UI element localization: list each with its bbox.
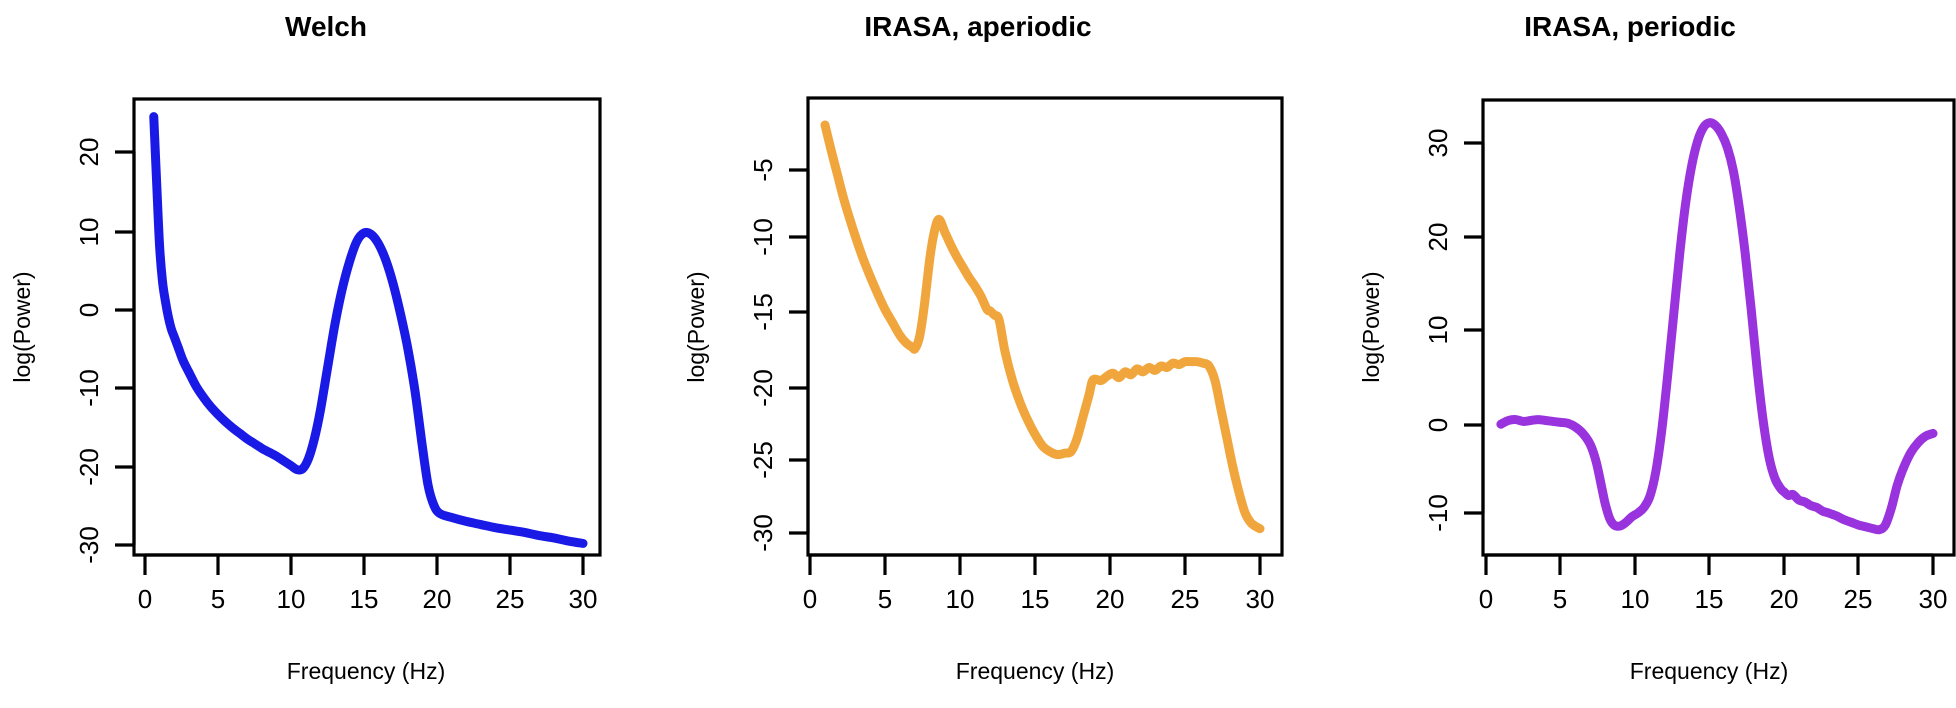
y-tick-label: 20 [74, 138, 104, 167]
x-tick-label: 5 [1553, 584, 1567, 614]
x-tick-label: 0 [803, 584, 817, 614]
panel-irasa-periodic: IRASA, periodic 30 20 10 0 -10 [1304, 0, 1956, 708]
x-tick-label: 10 [946, 584, 975, 614]
y-tick-label: 30 [1423, 129, 1453, 158]
panel-title: Welch [285, 11, 367, 42]
y-tick-label: -30 [748, 514, 778, 552]
y-tick-label: -5 [748, 158, 778, 181]
y-tick-label: 0 [1423, 418, 1453, 432]
x-tick-label: 15 [1021, 584, 1050, 614]
panel-irasa-aperiodic: IRASA, aperiodic -5 -10 -15 -20 -25 -30 [652, 0, 1304, 708]
x-axis-ticks [145, 555, 583, 575]
panel-welch: Welch 20 10 0 -10 -20 -30 [0, 0, 652, 708]
x-tick-label: 20 [1770, 584, 1799, 614]
y-tick-label: 20 [1423, 223, 1453, 252]
y-tick-label: -30 [74, 526, 104, 564]
y-tick-label: -10 [748, 218, 778, 256]
x-tick-label: 15 [1695, 584, 1724, 614]
series-path [154, 117, 583, 544]
x-tick-label: 30 [569, 584, 598, 614]
panel-title: IRASA, aperiodic [864, 11, 1091, 42]
y-axis-title: log(Power) [1358, 271, 1384, 382]
x-axis-ticks [810, 555, 1260, 575]
y-tick-label: -25 [748, 441, 778, 479]
x-tick-label: 20 [423, 584, 452, 614]
x-axis-title: Frequency (Hz) [956, 658, 1114, 684]
y-tick-label: -10 [1423, 494, 1453, 532]
x-tick-label: 5 [211, 584, 225, 614]
figure-root: Welch 20 10 0 -10 -20 -30 [0, 0, 1956, 708]
x-tick-label: 0 [1479, 584, 1493, 614]
x-tick-label: 10 [277, 584, 306, 614]
x-axis-title: Frequency (Hz) [1630, 658, 1788, 684]
plot-box [1483, 100, 1954, 555]
y-axis-ticks [789, 170, 808, 533]
x-axis-ticks [1486, 555, 1933, 575]
y-tick-label: -10 [74, 369, 104, 407]
y-tick-labels: -5 -10 -15 -20 -25 -30 [748, 158, 778, 551]
y-axis-ticks [115, 152, 134, 545]
x-tick-label: 5 [878, 584, 892, 614]
y-axis-title: log(Power) [9, 271, 35, 382]
x-tick-labels: 0 5 10 15 20 25 30 [138, 584, 598, 614]
y-tick-label: 0 [74, 303, 104, 317]
y-tick-label: 10 [74, 218, 104, 247]
x-tick-labels: 0 5 10 15 20 25 30 [803, 584, 1275, 614]
x-tick-label: 15 [350, 584, 379, 614]
x-tick-label: 30 [1919, 584, 1948, 614]
x-tick-label: 10 [1621, 584, 1650, 614]
x-tick-label: 25 [1844, 584, 1873, 614]
y-tick-label: -20 [74, 448, 104, 486]
x-tick-label: 20 [1096, 584, 1125, 614]
x-axis-title: Frequency (Hz) [287, 658, 445, 684]
y-tick-label: 10 [1423, 316, 1453, 345]
series-path [1501, 123, 1933, 530]
x-tick-label: 25 [1171, 584, 1200, 614]
plot-box [134, 99, 600, 555]
x-tick-label: 30 [1246, 584, 1275, 614]
y-tick-labels: 30 20 10 0 -10 [1423, 129, 1453, 532]
x-tick-labels: 0 5 10 15 20 25 30 [1479, 584, 1948, 614]
panel-welch-svg: Welch 20 10 0 -10 -20 -30 [0, 0, 652, 708]
y-tick-labels: 20 10 0 -10 -20 -30 [74, 138, 104, 564]
y-tick-label: -20 [748, 369, 778, 407]
x-tick-label: 25 [496, 584, 525, 614]
panel-title: IRASA, periodic [1524, 11, 1736, 42]
y-axis-ticks [1464, 143, 1483, 513]
panel-irasa-periodic-svg: IRASA, periodic 30 20 10 0 -10 [1304, 0, 1956, 708]
y-tick-label: -15 [748, 293, 778, 331]
panel-irasa-aperiodic-svg: IRASA, aperiodic -5 -10 -15 -20 -25 -30 [652, 0, 1304, 708]
y-axis-title: log(Power) [683, 271, 709, 382]
x-tick-label: 0 [138, 584, 152, 614]
plot-box [808, 98, 1282, 555]
series-path [825, 125, 1260, 529]
